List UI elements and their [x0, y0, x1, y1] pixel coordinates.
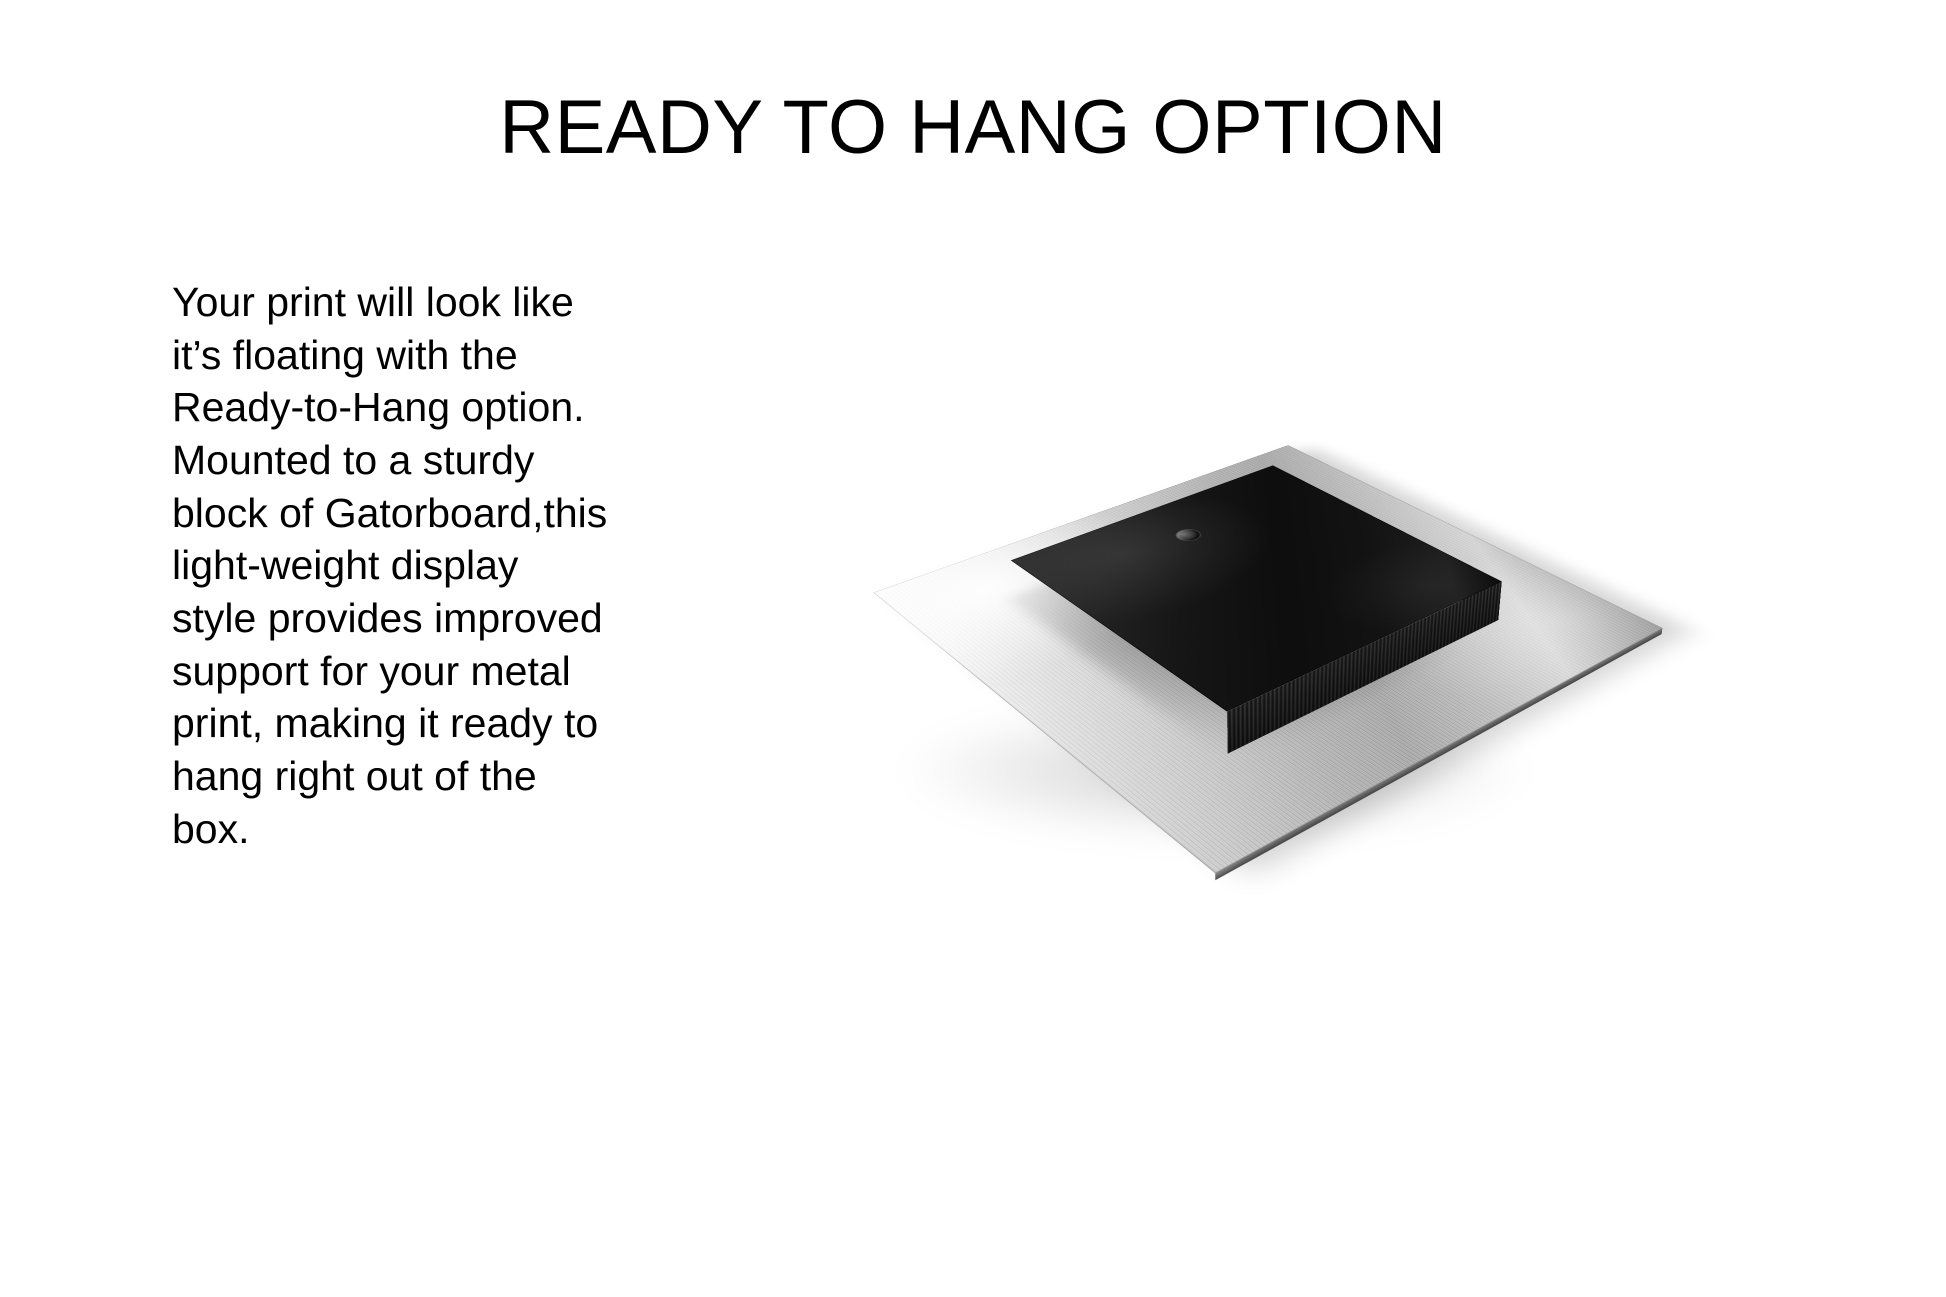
body-line: light-weight display [172, 542, 518, 588]
body-line: style provides improved [172, 595, 603, 641]
body-line: Ready-to-Hang option. [172, 384, 585, 430]
body-line: Your print will look like [172, 279, 574, 325]
hanging-hole [1172, 527, 1205, 542]
body-line: print, making it ready to [172, 700, 598, 746]
body-line: support for your metal [172, 648, 571, 694]
product-scene [873, 445, 1662, 873]
product-stage [840, 360, 1680, 860]
black-gatorboard-mounting-block [1011, 465, 1502, 711]
brushed-aluminum-metal-print-panel [873, 445, 1662, 873]
product-image [840, 360, 1680, 860]
slide-canvas: READY TO HANG OPTION Your print will loo… [0, 0, 1946, 1297]
body-line: Mounted to a sturdy [172, 437, 534, 483]
page-title: READY TO HANG OPTION [0, 88, 1946, 168]
body-line: box. [172, 806, 250, 852]
body-line: it’s floating with the [172, 332, 518, 378]
body-line: block of Gatorboard,this [172, 490, 607, 536]
body-line: hang right out of the [172, 753, 537, 799]
gatorboard-top-face [1011, 465, 1502, 711]
body-paragraph: Your print will look like it’s floating … [172, 276, 612, 855]
